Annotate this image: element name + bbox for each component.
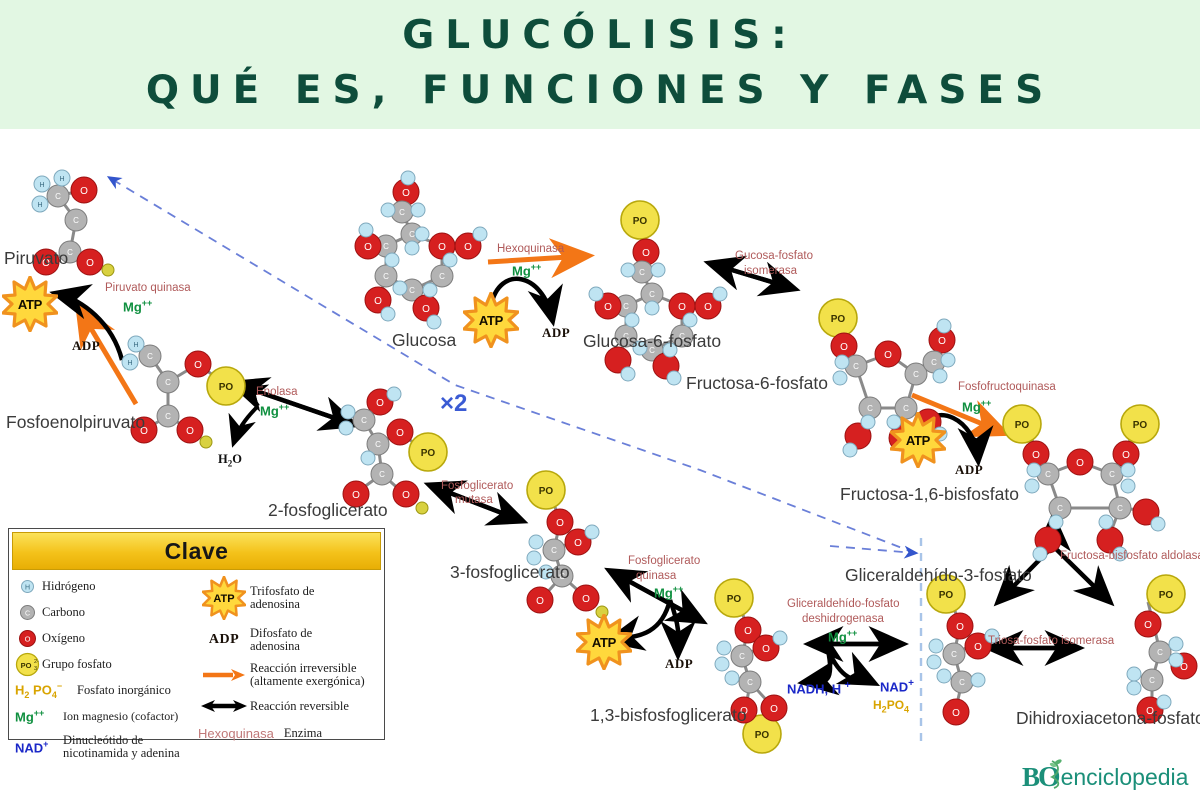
atp-star-fosfofructoquinasa: ATP — [890, 412, 946, 468]
legend-column-symbols: ATP Trifosfato de adenosina ADP Difosfat… — [198, 576, 380, 767]
atp-label: ATP — [576, 614, 632, 670]
svg-text:O: O — [952, 708, 960, 719]
legend-label-irreversible: Reacción irreversible (altamente exergón… — [250, 662, 365, 688]
svg-text:O: O — [604, 302, 612, 313]
svg-text:H: H — [37, 202, 42, 209]
label-h2o: H2O — [218, 452, 242, 469]
molecule-3-fosfoglicerato: PO CC OO OO — [520, 472, 630, 632]
enzyme-triosa-fosfato-isomerasa: Triosa-fosfato isomerasa — [988, 635, 1114, 648]
svg-text:C: C — [399, 208, 405, 217]
svg-text:H: H — [59, 176, 64, 183]
svg-text:C: C — [1109, 470, 1115, 479]
atp-star-fosfoglicerato-quinasa: ATP — [576, 614, 632, 670]
svg-text:C: C — [913, 370, 919, 379]
label-2-fosfoglicerato: 2-fosfoglicerato — [268, 500, 388, 521]
svg-text:O: O — [840, 342, 848, 353]
svg-text:O: O — [374, 296, 382, 307]
atp-label: ATP — [890, 412, 946, 468]
svg-text:C: C — [55, 192, 61, 201]
legend-item-fosfato-inorganico: H2 PO4− Fosfato inorgánico — [12, 680, 198, 701]
legend-label-irreversible-line1: Reacción irreversible — [250, 661, 357, 675]
enzyme-enolasa: Enolasa — [256, 386, 298, 399]
legend-label-enzima: Enzima — [284, 727, 322, 740]
svg-text:PO: PO — [1159, 590, 1174, 601]
enzyme-fosfoglicerato-mutasa-line2: mutasa — [455, 494, 493, 507]
legend-item-reversible: Reacción reversible — [198, 695, 380, 717]
svg-text:O: O — [194, 360, 202, 371]
logo-text-enciclopedia: enciclopedia — [1061, 764, 1189, 791]
legend-item-nad: NAD+ Dinucleótido de nicotinamida y aden… — [12, 732, 198, 762]
svg-text:C: C — [379, 470, 385, 479]
svg-text:C: C — [383, 242, 389, 251]
legend-label-grupo-fosfato: Grupo fosfato — [42, 658, 112, 671]
svg-text:O: O — [438, 242, 446, 253]
legend-item-carbono: C Carbono — [12, 602, 198, 623]
legend-label-oxigeno: Oxígeno — [42, 632, 85, 645]
svg-text:PO: PO — [755, 730, 770, 741]
legend-label-carbono: Carbono — [42, 606, 85, 619]
label-nad: NAD+ — [880, 678, 914, 694]
inorganic-phosphate-icon: H2 PO4− — [12, 681, 77, 700]
label-adp-hexoquinasa: ADP — [542, 325, 570, 341]
svg-text:O: O — [956, 622, 964, 633]
label-3-fosfoglicerato: 3-fosfoglicerato — [450, 562, 570, 583]
svg-text:C: C — [867, 404, 873, 413]
svg-text:C: C — [383, 272, 389, 281]
label-adp-pfk: ADP — [955, 462, 983, 478]
label-glucosa-6-fosfato: Glucosa-6-fosfato — [583, 331, 721, 352]
svg-text:O: O — [186, 426, 194, 437]
label-glucosa: Glucosa — [392, 330, 456, 351]
atp-label: ATP — [2, 276, 58, 332]
reversible-arrow-icon — [198, 699, 250, 713]
svg-text:C: C — [747, 678, 753, 687]
svg-text:C: C — [649, 290, 655, 299]
svg-text:H: H — [39, 182, 44, 189]
legend-item-hidrogeno: H Hidrógeno — [12, 576, 198, 597]
svg-text:O: O — [86, 258, 94, 269]
svg-text:PO: PO — [727, 594, 742, 605]
legend-label-reversible: Reacción reversible — [250, 700, 349, 713]
label-nadh: NADH, H + — [787, 680, 851, 696]
svg-text:PO: PO — [1015, 420, 1030, 431]
svg-text:PO: PO — [831, 314, 846, 325]
svg-text:O: O — [1180, 662, 1188, 673]
svg-text:C: C — [1157, 648, 1163, 657]
enzyme-gapdh-line1: Gliceraldehído-fosfato — [787, 598, 900, 611]
svg-text:O: O — [556, 518, 564, 529]
cofactor-mg-piruvato-quinasa: Mg++ — [123, 298, 152, 314]
legend-item-adp: ADP Difosfato de adenosina — [198, 625, 380, 655]
cofactor-mg-pgk: Mg++ — [654, 584, 683, 600]
svg-text:H: H — [127, 360, 132, 367]
svg-text:PO: PO — [219, 382, 234, 393]
legend-label-hidrogeno: Hidrógeno — [42, 580, 95, 593]
label-adp-pgk: ADP — [665, 656, 693, 672]
cofactor-mg-enolasa: Mg++ — [260, 402, 289, 418]
svg-text:O: O — [80, 186, 88, 197]
legend-label-atp: Trifosfato de adenosina — [250, 585, 314, 611]
legend-label-adp: Difosfato de adenosina — [250, 627, 312, 653]
legend-label-nad-line1: Dinucleótido de — [63, 733, 143, 747]
enzyme-glucosafosfato-isomerasa-line2: isomerasa — [744, 265, 797, 278]
svg-text:O: O — [974, 642, 982, 653]
svg-text:O: O — [582, 594, 590, 605]
svg-text:3: 3 — [34, 666, 37, 672]
label-fructosa-6-fosfato: Fructosa-6-fosfato — [686, 373, 828, 394]
atp-star-piruvato-quinasa: ATP — [2, 276, 58, 332]
irreversible-arrow-icon — [198, 668, 250, 682]
oxygen-atom-icon: O — [12, 629, 42, 648]
legend-item-oxigeno: O Oxígeno — [12, 628, 198, 649]
svg-text:O: O — [938, 336, 946, 347]
svg-text:O: O — [24, 635, 30, 644]
svg-text:O: O — [1076, 458, 1084, 469]
carbon-atom-icon: C — [12, 604, 42, 621]
legend-item-atp: ATP Trifosfato de adenosina — [198, 576, 380, 620]
legend-item-grupo-fosfato: PO 3 2- Grupo fosfato — [12, 654, 198, 675]
svg-text:O: O — [1144, 620, 1152, 631]
svg-text:PO: PO — [633, 216, 648, 227]
svg-text:H: H — [133, 342, 138, 349]
legend-label-adp-line2: adenosina — [250, 639, 300, 653]
svg-text:O: O — [678, 302, 686, 313]
cofactor-mg-hexoquinasa: Mg++ — [512, 262, 541, 278]
legend-label-fosfato-inorganico: Fosfato inorgánico — [77, 684, 171, 697]
legend-title-bar: Clave — [12, 532, 381, 570]
svg-text:C: C — [551, 546, 557, 555]
svg-text:C: C — [165, 378, 171, 387]
svg-text:O: O — [396, 428, 404, 439]
cofactor-mg-pfk: Mg++ — [962, 398, 991, 414]
site-logo[interactable]: B O enciclopedia — [1022, 760, 1188, 794]
svg-text:C: C — [853, 362, 859, 371]
svg-text:ATP: ATP — [213, 593, 234, 605]
svg-text:O: O — [770, 704, 778, 715]
legend-label-atp-line1: Trifosfato de — [250, 584, 314, 598]
label-fructosa-1-6-bisfosfato: Fructosa-1,6-bisfosfato — [840, 484, 1019, 505]
legend-label-irreversible-line2: (altamente exergónica) — [250, 674, 365, 688]
legend-label-adp-line1: Difosfato de — [250, 626, 312, 640]
legend-item-irreversible: Reacción irreversible (altamente exergón… — [198, 660, 380, 690]
legend-label-atp-line2: adenosina — [250, 597, 300, 611]
enzyme-fosfoglicerato-mutasa-line1: Fosfoglicerato — [441, 480, 513, 493]
phosphate-group-icon: PO 3 2- — [12, 652, 42, 677]
svg-text:C: C — [931, 358, 937, 367]
recycle-dashed-arrow-right — [830, 546, 915, 553]
atp-star-hexoquinasa: ATP — [463, 292, 519, 348]
svg-text:O: O — [464, 242, 472, 253]
svg-text:O: O — [1122, 450, 1130, 461]
svg-text:O: O — [376, 398, 384, 409]
label-fosfato-inorganico: H2PO4 — [873, 698, 909, 714]
svg-text:C: C — [439, 272, 445, 281]
molecule-fructosa-1-6-bisfosfato: PO PO CC CC OO O — [1000, 396, 1190, 556]
svg-text:C: C — [1057, 504, 1063, 513]
legend-title: Clave — [165, 538, 229, 565]
svg-text:O: O — [642, 248, 650, 259]
svg-text:O: O — [884, 350, 892, 361]
svg-text:O: O — [762, 644, 770, 655]
svg-text:C: C — [739, 652, 745, 661]
svg-text:PO: PO — [20, 661, 31, 670]
svg-text:O: O — [422, 304, 430, 315]
svg-text:C: C — [1045, 470, 1051, 479]
svg-text:O: O — [364, 242, 372, 253]
svg-text:C: C — [1149, 676, 1155, 685]
svg-text:C: C — [409, 230, 415, 239]
svg-text:PO: PO — [421, 448, 436, 459]
legend-column-atoms: H Hidrógeno C Carbono O Oxígeno — [12, 576, 198, 767]
enzyme-glucosafosfato-isomerasa-line1: Gucosa-fosfato — [735, 250, 813, 263]
enzyme-fosfoglicerato-quinasa-line2: quinasa — [636, 570, 676, 583]
label-adp-piruvato-quinasa: ADP — [72, 338, 100, 354]
molecule-gliceraldehido-3-fosfato: PO CC OO O — [918, 580, 1028, 740]
cofactor-mg-gapdh: Mg++ — [828, 628, 857, 644]
label-dihidroxiacetona-fosfato: Dihidroxiacetona-fosfato — [1016, 708, 1200, 729]
nad-icon: NAD+ — [12, 739, 63, 755]
svg-text:H: H — [24, 585, 29, 592]
svg-text:O: O — [402, 490, 410, 501]
svg-text:C: C — [165, 412, 171, 421]
legend-item-magnesio: Mg++ Ion magnesio (cofactor) — [12, 706, 198, 727]
svg-text:O: O — [536, 596, 544, 607]
enzyme-fosfofructoquinasa: Fosfofructoquinasa — [958, 381, 1056, 394]
legend-label-magnesio: Ion magnesio (cofactor) — [63, 710, 178, 723]
svg-text:PO: PO — [1133, 420, 1148, 431]
legend-box: Clave H Hidrógeno C Carbono — [8, 528, 385, 740]
arrow-nad-branch — [828, 650, 872, 682]
svg-text:PO: PO — [939, 590, 954, 601]
atp-star-icon: ATP — [198, 576, 250, 620]
legend-enzyme-example: Hexoquinasa — [198, 726, 274, 741]
svg-text:O: O — [704, 302, 712, 313]
enzyme-gapdh-line2: deshidrogenasa — [802, 613, 884, 626]
svg-text:O: O — [402, 188, 410, 199]
magnesium-ion-icon: Mg++ — [12, 708, 63, 724]
hydrogen-atom-icon: H — [12, 579, 42, 594]
legend-item-enzima: Hexoquinasa Enzima — [198, 722, 380, 744]
svg-text:C: C — [951, 650, 957, 659]
label-piruvato: Piruvato — [4, 248, 68, 269]
enzyme-piruvato-quinasa: Piruvato quinasa — [105, 282, 191, 295]
adp-text-icon: ADP — [198, 632, 250, 648]
svg-text:2-: 2- — [34, 659, 39, 665]
enzyme-fosfoglicerato-quinasa-line1: Fosfoglicerato — [628, 555, 700, 568]
svg-text:C: C — [361, 416, 367, 425]
svg-text:C: C — [959, 678, 965, 687]
svg-text:C: C — [73, 216, 79, 225]
enzyme-hexoquinasa: Hexoquinasa — [497, 243, 564, 256]
svg-text:C: C — [409, 286, 415, 295]
svg-text:C: C — [147, 352, 153, 361]
legend-label-nad: Dinucleótido de nicotinamida y adenina — [63, 734, 180, 760]
enzyme-fructosa-bisfosfato-aldolasa: Fructosa-bisfosfato aldolasa — [1060, 550, 1200, 563]
svg-text:C: C — [639, 268, 645, 277]
svg-text:C: C — [623, 302, 629, 311]
svg-text:C: C — [375, 440, 381, 449]
svg-text:O: O — [1032, 450, 1040, 461]
svg-text:O: O — [744, 626, 752, 637]
atp-label: ATP — [463, 292, 519, 348]
leaf-dna-icon — [1048, 759, 1064, 794]
label-gliceraldehido-3-fosfato: Gliceraldehído-3-fosfato — [845, 565, 1032, 586]
legend-label-nad-line2: nicotinamida y adenina — [63, 746, 180, 760]
label-multiplier-x2: ×2 — [440, 390, 467, 418]
svg-text:C: C — [1117, 504, 1123, 513]
label-1-3-bisfosfoglicerato: 1,3-bisfosfoglicerato — [590, 705, 747, 726]
svg-text:C: C — [24, 611, 29, 618]
svg-text:O: O — [574, 538, 582, 549]
svg-text:PO: PO — [539, 486, 554, 497]
label-fosfoenolpiruvato: Fosfoenolpiruvato — [6, 412, 145, 433]
